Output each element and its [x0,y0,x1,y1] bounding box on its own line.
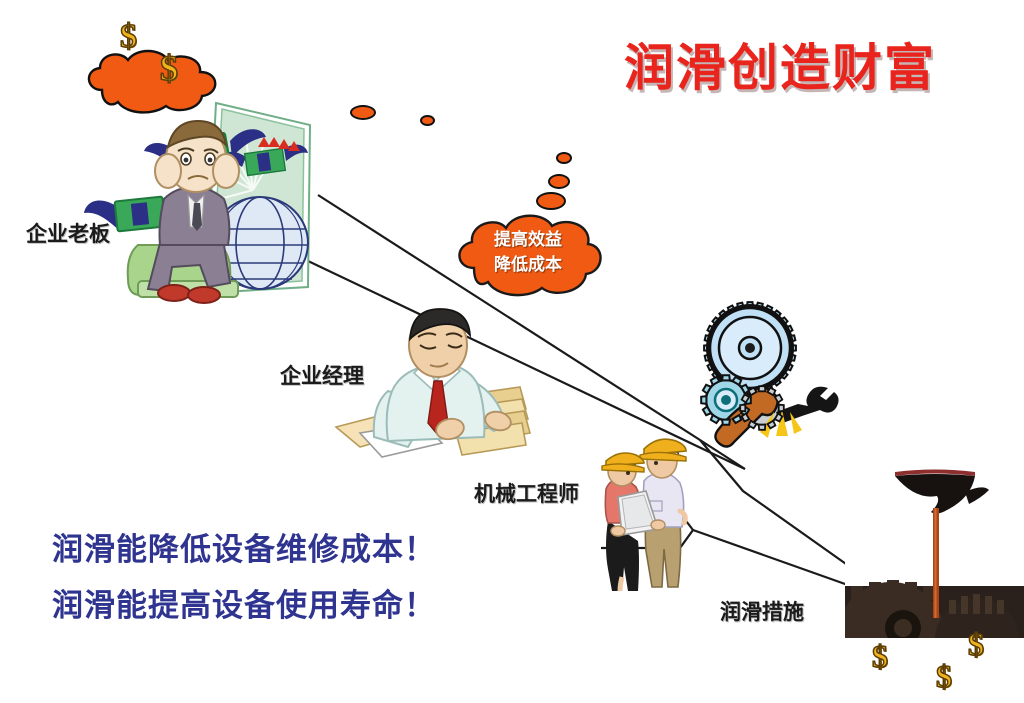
cloud-trail-dot [350,105,376,120]
page-title: 润滑创造财富 [624,28,936,100]
statement-line-1: 润滑能降低设备维修成本！ [52,524,436,569]
benefit-line-2: 降低成本 [448,253,608,278]
cloud-trail-dot [420,115,435,126]
oil-pouring-on-gears-photo [845,468,1024,638]
cloud-trail-dot [548,174,570,189]
dollar-sign-icon: $ [120,20,137,54]
benefit-thought-cloud: 提高效益 降低成本 [448,206,608,306]
dollar-sign-icon: $ [968,628,984,660]
worried-businessman-icon [78,95,328,310]
large-gear-icon [706,304,794,392]
black-wrench-icon [776,387,839,424]
dollar-sign-icon: $ [160,50,178,86]
label-lubrication: 润滑措施 [720,596,804,626]
two-engineers-blueprint-icon [592,425,702,595]
benefit-cloud-text: 提高效益 降低成本 [448,228,608,277]
statement-line-2: 润滑能提高设备使用寿命！ [52,580,436,625]
dollar-sign-icon: $ [872,640,888,672]
label-boss: 企业老板 [26,218,110,248]
label-manager: 企业经理 [280,360,364,390]
label-engineer: 机械工程师 [474,478,579,508]
slide-canvas: 润滑创造财富 $ $ 提高效益 降低成本 [0,0,1024,703]
gear-and-wrench-icon [690,300,840,450]
dollar-sign-icon: $ [936,660,952,692]
benefit-line-1: 提高效益 [448,228,608,253]
manager-sorting-papers-icon [330,305,545,480]
cloud-trail-dot [556,152,572,164]
